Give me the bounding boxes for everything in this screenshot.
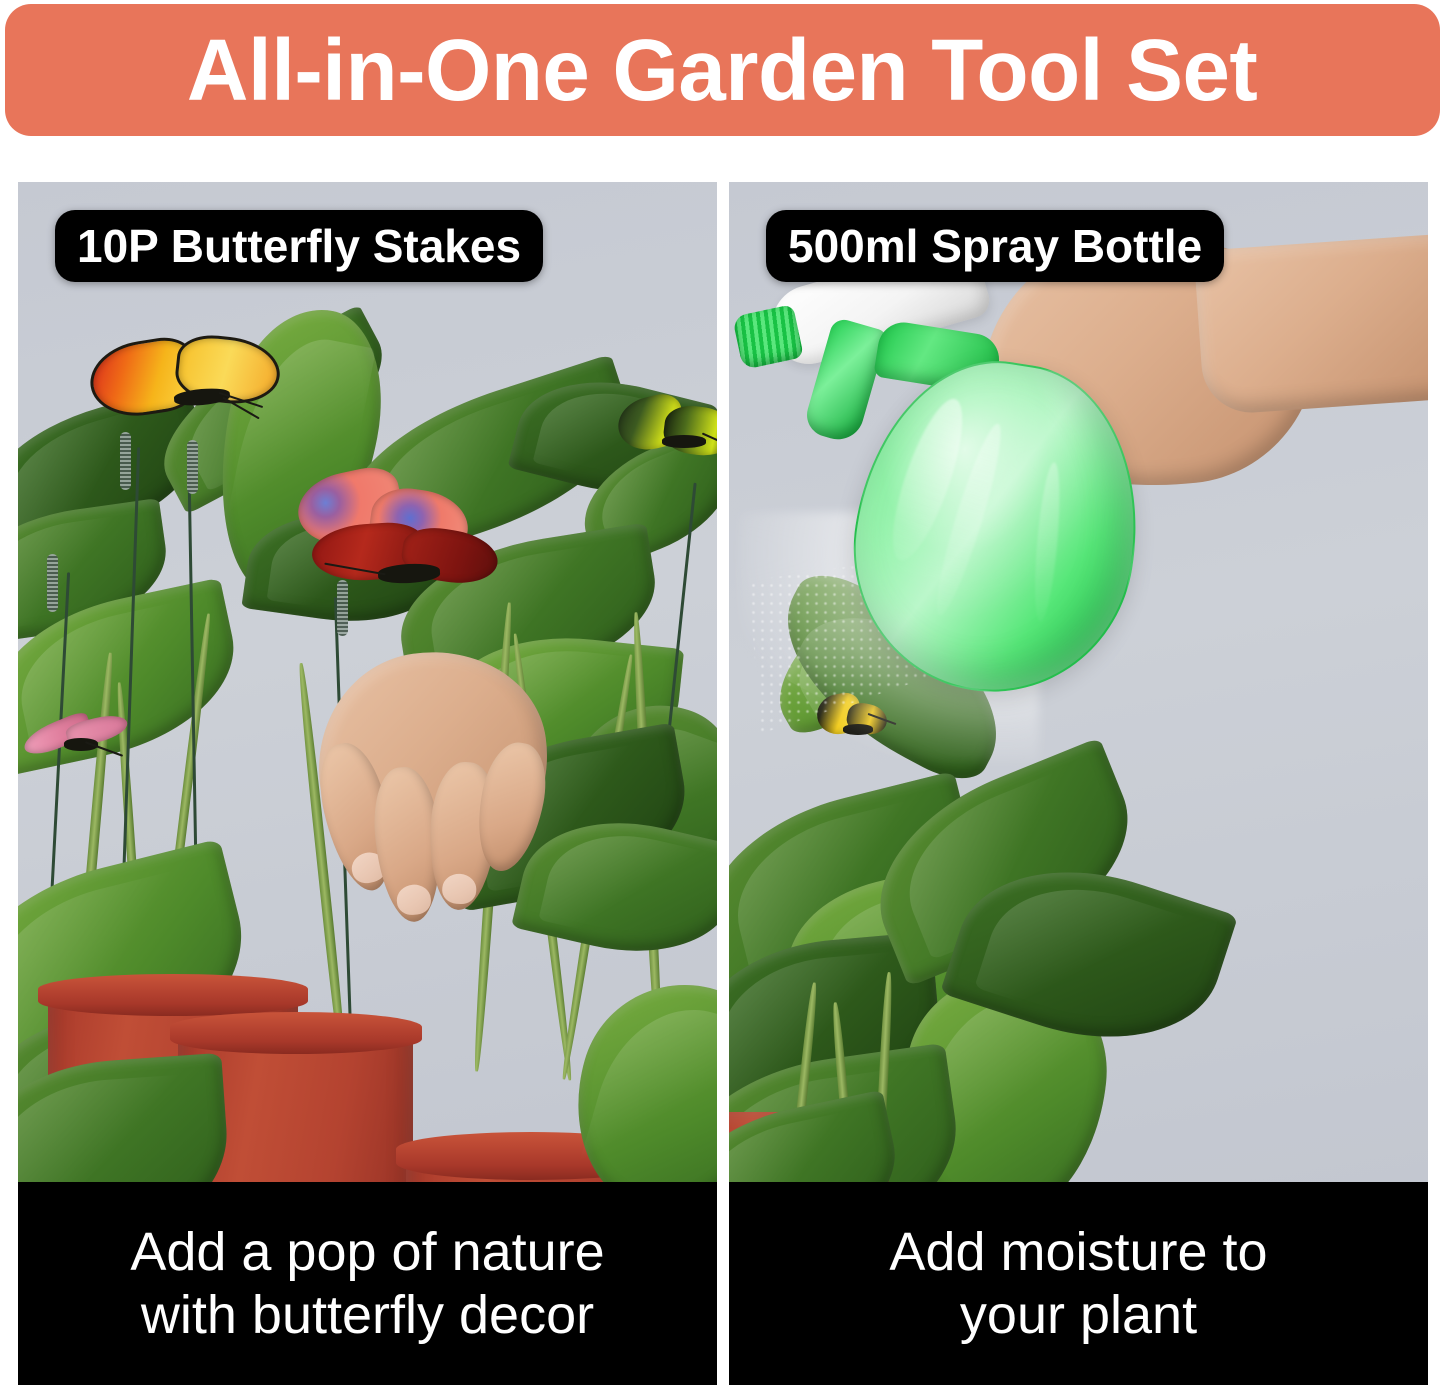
- butterfly-stake-pink-peacock: [298, 472, 508, 592]
- caption-spray-bottle: Add moisture to your plant: [729, 1182, 1428, 1385]
- photo-butterfly-stakes: [18, 182, 717, 1182]
- stake-spring-coil: [47, 554, 58, 612]
- bottle-highlight: [1030, 461, 1064, 622]
- fingernail: [396, 883, 432, 916]
- panel-spray-bottle: 500ml Spray Bottle Add moisture to your …: [729, 182, 1428, 1385]
- forearm: [1194, 233, 1428, 416]
- panel-label-text: 10P Butterfly Stakes: [77, 223, 521, 269]
- product-infographic: All-in-One Garden Tool Set: [0, 0, 1445, 1390]
- butterfly-body: [662, 435, 706, 448]
- photo-spray-bottle: [729, 182, 1428, 1182]
- panel-label-butterfly-stakes: 10P Butterfly Stakes: [55, 210, 543, 282]
- butterfly-body: [843, 724, 873, 735]
- butterfly-stake-rose: [22, 722, 132, 762]
- page-title: All-in-One Garden Tool Set: [187, 27, 1257, 114]
- panel-label-text: 500ml Spray Bottle: [788, 223, 1202, 269]
- butterfly-wing: [661, 403, 717, 459]
- caption-butterfly-stakes: Add a pop of nature with butterfly decor: [18, 1182, 717, 1385]
- caption-line-2: your plant: [960, 1284, 1197, 1347]
- stake-spring-coil: [187, 440, 198, 494]
- caption-line-1: Add a pop of nature: [130, 1221, 604, 1284]
- panel-label-spray-bottle: 500ml Spray Bottle: [766, 210, 1224, 282]
- header-banner: All-in-One Garden Tool Set: [5, 4, 1440, 136]
- caption-line-2: with butterfly decor: [141, 1284, 594, 1347]
- planter-rim: [38, 974, 308, 1016]
- panel-butterfly-stakes: 10P Butterfly Stakes Add a pop of nature…: [18, 182, 717, 1385]
- planter-rim: [170, 1012, 422, 1054]
- butterfly-stake-yellow-green: [618, 397, 717, 459]
- stake-spring-coil: [120, 432, 131, 490]
- fingernail: [441, 873, 477, 905]
- caption-line-1: Add moisture to: [889, 1221, 1267, 1284]
- butterfly-stake-orange: [90, 337, 290, 427]
